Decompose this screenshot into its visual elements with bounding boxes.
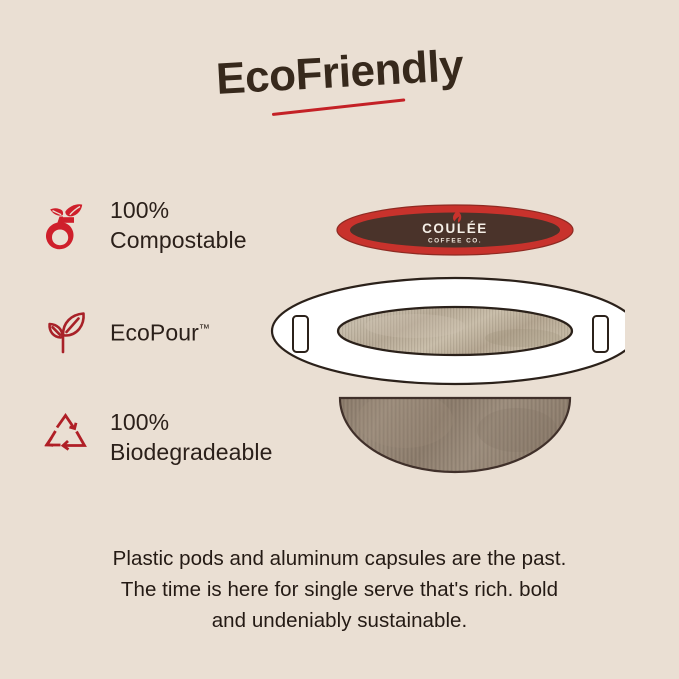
feature-label-biodegradeable: 100% Biodegradeable xyxy=(110,407,273,467)
coffee-filter-mesh xyxy=(338,307,572,355)
page-title-wrap: EcoFriendly xyxy=(0,48,679,98)
feature-label-ecopour-text: EcoPour xyxy=(110,320,199,346)
ecofriendly-infographic: EcoFriendly 100% Comp xyxy=(0,0,679,679)
recycle-arrows-icon xyxy=(34,405,98,469)
feature-label-ecopour: EcoPour™ xyxy=(110,314,210,348)
two-leaf-plant-icon xyxy=(34,299,98,363)
lid-brand-name: COULÉE xyxy=(422,221,488,236)
feature-label-compostable: 100% Compostable xyxy=(110,195,247,255)
fiber-pod-cup xyxy=(340,390,570,480)
page-title: EcoFriendly xyxy=(215,41,465,105)
footer-copy: Plastic pods and aluminum capsules are t… xyxy=(40,543,639,636)
lid-tagline: COFFEE CO. xyxy=(428,238,482,245)
sprout-seed-icon xyxy=(34,193,98,257)
trademark-symbol: ™ xyxy=(199,323,210,335)
pod-side-tab-left xyxy=(293,316,308,352)
pod-side-tab-right xyxy=(593,316,608,352)
coffee-pod-illustration: COULÉE COFFEE CO. xyxy=(255,190,625,490)
title-underline-rule xyxy=(272,98,406,116)
